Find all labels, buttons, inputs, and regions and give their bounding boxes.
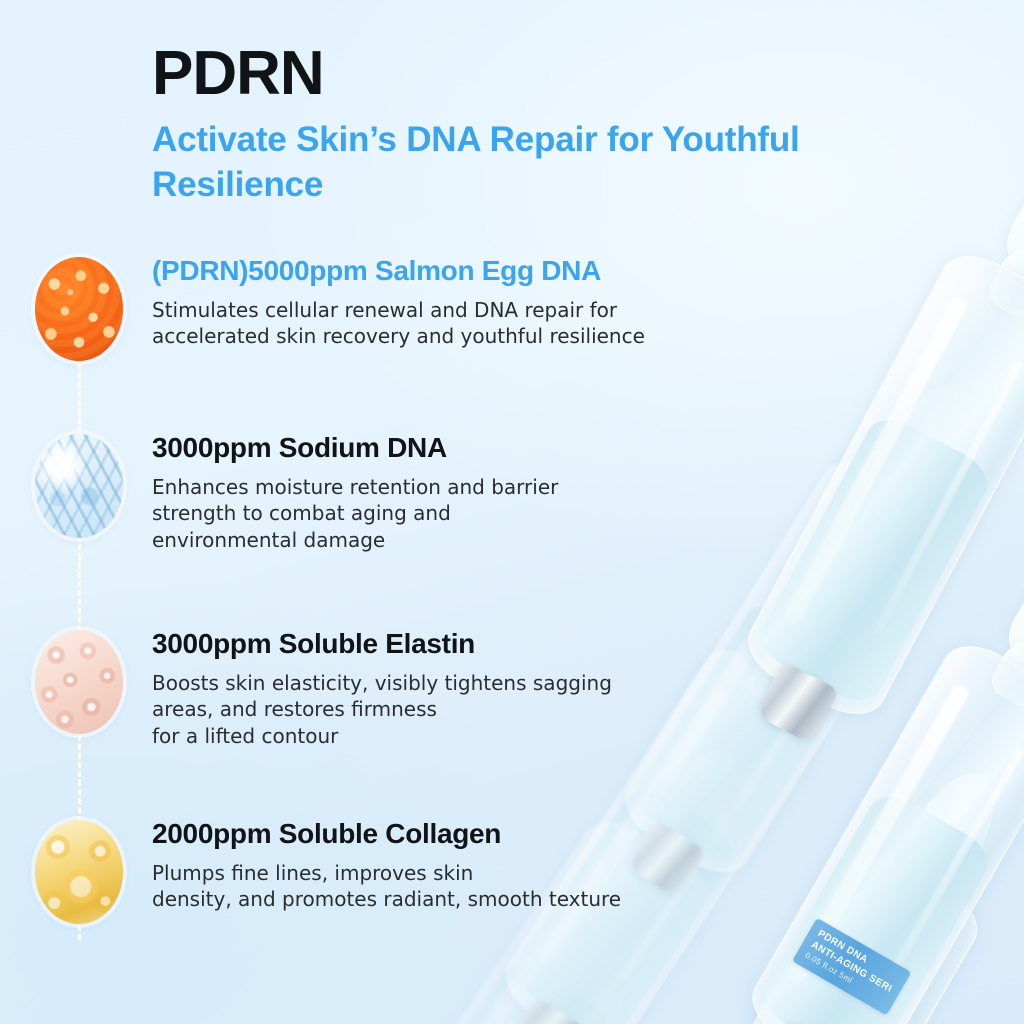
dna-helix-icon <box>35 434 123 538</box>
feature-title: 3000ppm Soluble Elastin <box>152 628 912 660</box>
feature-title: 2000ppm Soluble Collagen <box>152 818 912 850</box>
ampoule-neck <box>985 630 1024 713</box>
label-product-type: ANTI-AGING SERUM <box>808 939 894 996</box>
icon-texture <box>35 257 123 361</box>
ampoule-liquid <box>378 953 622 1024</box>
ampoule-base <box>506 996 585 1024</box>
brand-title: PDRN <box>152 38 324 109</box>
feature-text: 3000ppm Soluble Elastin Boosts skin elas… <box>152 628 912 749</box>
feature-title: (PDRN)5000ppm Salmon Egg DNA <box>152 255 912 287</box>
collagen-oil-icon <box>35 820 123 924</box>
feature-description: Stimulates cellular renewal and DNA repa… <box>152 297 912 350</box>
headline: Activate Skin’s DNA Repair for Youthful … <box>152 118 852 208</box>
ampoule-cap <box>995 149 1024 289</box>
feature-text: 3000ppm Sodium DNA Enhances moisture ret… <box>152 432 912 553</box>
label-product-name: PDRN DNA <box>815 928 901 985</box>
ampoule-base <box>758 1020 841 1024</box>
feature-description: Enhances moisture retention and barrier … <box>152 474 912 553</box>
product-infographic: PDRN DNA ANTI-AGING SERUM 0.05 fl.oz 5ml… <box>0 0 1024 1024</box>
icon-texture <box>35 434 123 538</box>
icon-texture <box>35 630 123 734</box>
feature-description: Plumps fine lines, improves skin density… <box>152 860 912 913</box>
label-volume: 0.05 fl.oz 5ml <box>803 950 887 1005</box>
ampoule-cap <box>997 549 1024 683</box>
feature-text: (PDRN)5000ppm Salmon Egg DNA Stimulates … <box>152 255 912 350</box>
ampoule-neck <box>983 236 1024 322</box>
icon-texture <box>35 820 123 924</box>
ampoule-cap <box>897 759 1013 890</box>
ampoule-liquid <box>660 990 898 1024</box>
product-label: PDRN DNA ANTI-AGING SERUM 0.05 fl.oz 5ml <box>792 918 912 1016</box>
salmon-roe-icon <box>35 257 123 361</box>
elastin-cells-icon <box>35 630 123 734</box>
ampoule-highlight-secondary <box>777 953 926 1024</box>
feature-description: Boosts skin elasticity, visibly tightens… <box>152 670 912 749</box>
feature-title: 3000ppm Sodium DNA <box>152 432 912 464</box>
ampoule-highlight-secondary <box>492 924 657 1024</box>
feature-text: 2000ppm Soluble Collagen Plumps fine lin… <box>152 818 912 913</box>
